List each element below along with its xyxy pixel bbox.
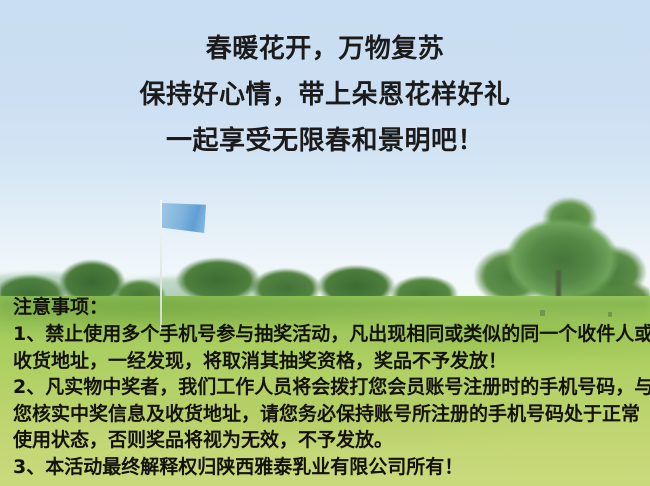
notice-title: 注意事项： [13, 294, 643, 321]
headline-line-3: 一起享受无限春和景明吧！ [0, 118, 650, 164]
headline-line-2: 保持好心情，带上朵恩花样好礼 [0, 72, 650, 118]
notice-line-3: 2、凡实物中奖者，我们工作人员将会拨打您会员账号注册时的手机号码，与 [13, 374, 643, 401]
headline-block: 春暖花开，万物复苏 保持好心情，带上朵恩花样好礼 一起享受无限春和景明吧！ [0, 26, 650, 164]
notice-line-2: 收货地址，一经发现，将取消其抽奖资格，奖品不予发放！ [13, 348, 643, 375]
headline-line-1: 春暖花开，万物复苏 [0, 26, 650, 72]
promo-banner: 春暖花开，万物复苏 保持好心情，带上朵恩花样好礼 一起享受无限春和景明吧！ 注意… [0, 0, 650, 486]
notice-line-6: 3、本活动最终解释权归陕西雅泰乳业有限公司所有！ [13, 454, 643, 481]
notice-line-1: 1、禁止使用多个手机号参与抽奖活动，凡出现相同或类似的同一个收件人或 [13, 321, 643, 348]
notice-block: 注意事项： 1、禁止使用多个手机号参与抽奖活动，凡出现相同或类似的同一个收件人或… [13, 294, 643, 480]
notice-line-4: 您核实中奖信息及收货地址，请您务必保持账号所注册的手机号码处于正常 [13, 401, 643, 428]
notice-line-5: 使用状态，否则奖品将视为无效，不予发放。 [13, 427, 643, 454]
